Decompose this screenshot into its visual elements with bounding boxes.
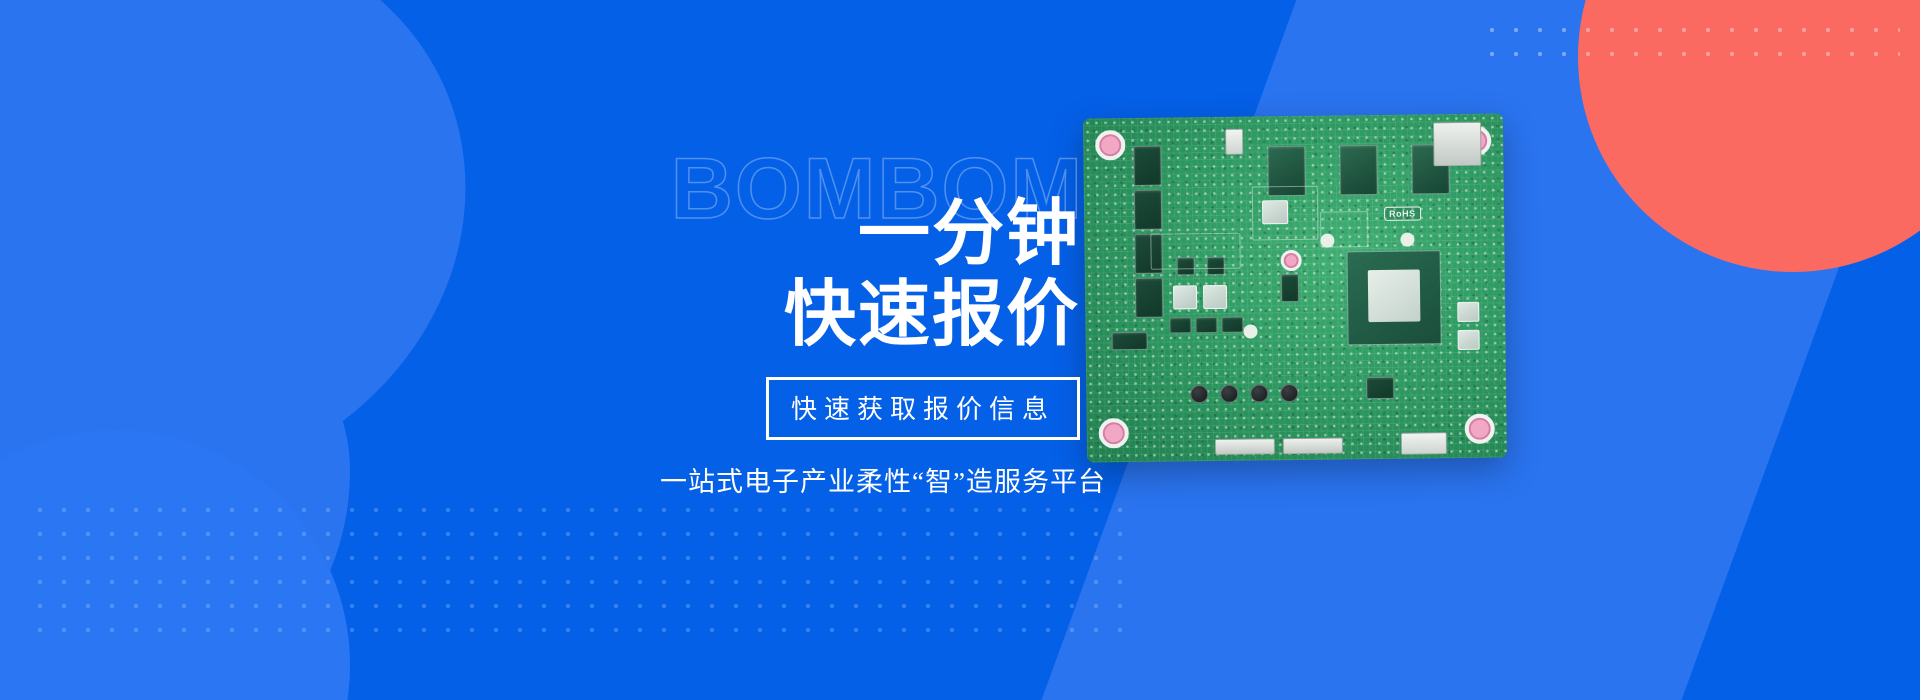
dram-chip: [1339, 145, 1378, 195]
small-ic: [1112, 332, 1148, 350]
rohs-marking: RoHS: [1384, 206, 1421, 220]
memory-chip: [1135, 278, 1163, 318]
headline-line-2: 快速报价: [660, 275, 1080, 356]
shielded-inductor: [1173, 285, 1197, 309]
silkscreen-outline: [1252, 186, 1319, 241]
small-ic: [1169, 317, 1191, 333]
mounting-hole-top-left: [1095, 130, 1125, 160]
test-pad: [1243, 324, 1257, 338]
mounting-hole-bottom-left: [1099, 418, 1129, 448]
small-ic: [1195, 317, 1217, 333]
pcb-board-image: RoHS: [1083, 113, 1507, 462]
shielded-inductor: [1203, 285, 1227, 309]
tagline: 一站式电子产业柔性“智”造服务平台: [660, 460, 1080, 499]
memory-chip: [1134, 190, 1162, 230]
rj45-connector: [1433, 122, 1482, 167]
get-quote-button[interactable]: 快速获取报价信息: [766, 377, 1080, 440]
pin-header: [1225, 129, 1243, 155]
dot-grid-bottom-left: [28, 498, 1138, 650]
test-pad: [1400, 233, 1414, 247]
mounting-hole-center: [1281, 250, 1302, 271]
processor-die: [1368, 270, 1420, 322]
edge-connector: [1283, 437, 1343, 454]
pcb-substrate: RoHS: [1083, 113, 1507, 462]
capacitor: [1250, 384, 1268, 402]
dot-grid-top-right: [1480, 18, 1900, 70]
capacitor: [1220, 385, 1238, 403]
silkscreen-outline: [1150, 233, 1240, 270]
edge-connector: [1215, 438, 1275, 455]
small-ic: [1281, 274, 1299, 302]
silkscreen-outline: [1320, 211, 1368, 248]
memory-chip: [1133, 146, 1161, 186]
promo-banner: BOMBOM 一分钟 快速报价 快速获取报价信息 一站式电子产业柔性“智”造服务…: [0, 0, 1920, 700]
small-ic: [1221, 317, 1243, 333]
headline-line-1: 一分钟: [660, 194, 1080, 275]
capacitor: [1190, 385, 1208, 403]
shielded-inductor: [1458, 330, 1480, 350]
processor-bga: [1347, 250, 1442, 345]
io-connector: [1401, 432, 1447, 455]
headline: 一分钟 快速报价: [660, 194, 1080, 355]
small-ic: [1366, 377, 1394, 399]
shielded-inductor: [1457, 302, 1479, 322]
banner-copy: BOMBOM 一分钟 快速报价 快速获取报价信息 一站式电子产业柔性“智”造服务…: [660, 150, 1080, 499]
capacitor: [1280, 384, 1298, 402]
